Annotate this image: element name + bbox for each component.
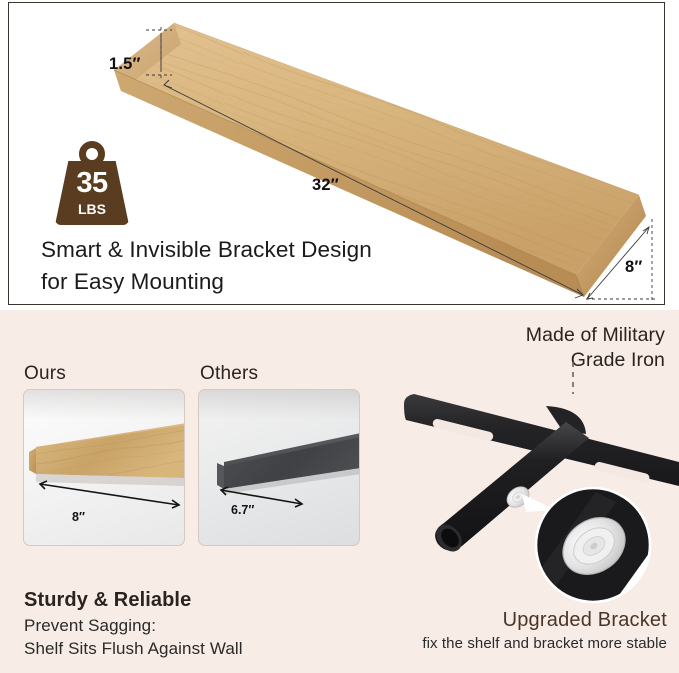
weight-value: 35 (55, 169, 129, 198)
product-infographic-page: 1.5″ 32″ 8″ 35 LBS Smart & Invisible Bra… (0, 0, 679, 673)
wall-gradient (24, 390, 184, 420)
wall-gradient-others (199, 390, 359, 420)
weight-unit: LBS (55, 202, 129, 216)
top-panel: 1.5″ 32″ 8″ 35 LBS Smart & Invisible Bra… (8, 2, 665, 305)
dimension-thickness-label: 1.5″ (109, 55, 141, 74)
dimension-length-label: 32″ (312, 176, 339, 195)
others-dimension-label: 6.7″ (231, 503, 254, 517)
bracket-caption-sub: fix the shelf and bracket more stable (422, 635, 667, 652)
weight-capacity-icon: 35 LBS (55, 141, 129, 225)
headline-line-1: Smart & Invisible Bracket Design (41, 234, 461, 266)
dimension-depth-label: 8″ (625, 258, 642, 277)
sturdy-caption-line-1: Prevent Sagging: (24, 616, 156, 636)
bracket-illustration (370, 360, 679, 610)
iron-title-line-1: Made of Military (365, 323, 665, 348)
sturdy-caption-title: Sturdy & Reliable (24, 589, 191, 612)
comparison-label-others: Others (200, 363, 258, 385)
headline: Smart & Invisible Bracket Design for Eas… (41, 234, 461, 298)
comparison-label-ours: Ours (24, 363, 66, 385)
ours-dimension-label: 8″ (72, 510, 85, 524)
headline-line-2: for Easy Mounting (41, 266, 461, 298)
comparison-card-ours: 8″ (23, 389, 185, 546)
sturdy-caption-line-2: Shelf Sits Flush Against Wall (24, 639, 243, 659)
bracket-caption-title: Upgraded Bracket (503, 609, 667, 632)
comparison-card-others: 6.7″ (198, 389, 360, 546)
